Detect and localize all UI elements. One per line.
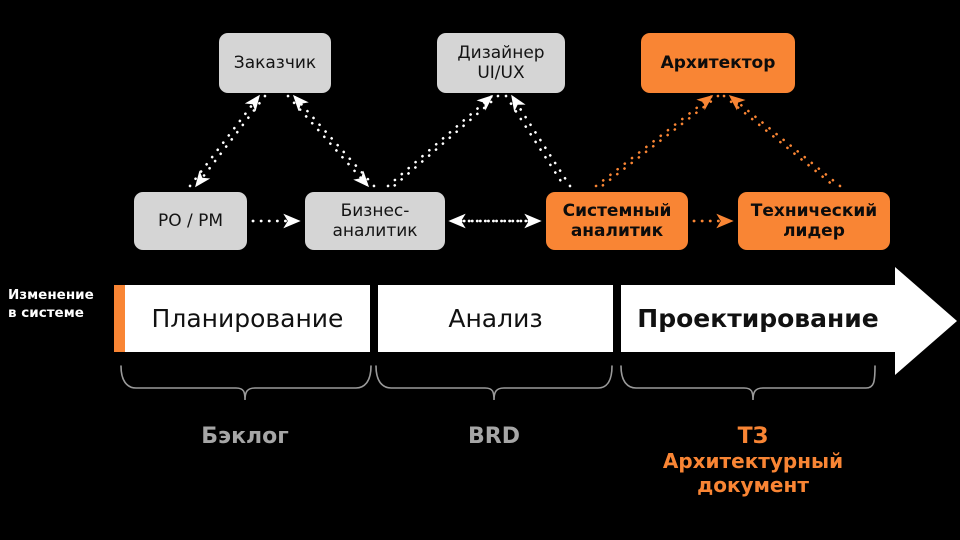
diagram-canvas: Изменение в системе Заказчик Дизайнер UI… bbox=[0, 0, 960, 540]
edge-customer-ba bbox=[288, 96, 374, 186]
edge-designer-sa bbox=[506, 96, 570, 186]
artifact-tz-title: ТЗ bbox=[633, 424, 873, 450]
role-box-designer[interactable]: Дизайнер UI/UX bbox=[437, 33, 565, 93]
phase-start-marker bbox=[114, 285, 125, 352]
phase-arrow-head bbox=[895, 267, 957, 375]
phase-cell-analysis[interactable]: Анализ bbox=[378, 285, 613, 352]
artifact-tz-subtitle: Архитектурный документ bbox=[633, 450, 873, 497]
edge-techlead-architect bbox=[724, 96, 840, 186]
role-box-tech-lead[interactable]: Технический лидер bbox=[738, 192, 890, 250]
artifact-brd-title: BRD bbox=[374, 424, 614, 450]
artifact-brd: BRD bbox=[374, 424, 614, 450]
artifact-backlog: Бэклог bbox=[125, 424, 365, 450]
edge-sa-architect bbox=[596, 96, 718, 186]
phase-cell-design[interactable]: Проектирование bbox=[621, 285, 895, 352]
role-box-customer[interactable]: Заказчик bbox=[219, 33, 331, 93]
brace-backlog bbox=[121, 366, 371, 400]
role-box-system-analyst[interactable]: Системный аналитик bbox=[546, 192, 688, 250]
artifact-tz: ТЗ Архитектурный документ bbox=[633, 424, 873, 498]
artifact-backlog-title: Бэклог bbox=[125, 424, 365, 450]
role-box-po-pm[interactable]: PO / PM bbox=[134, 192, 247, 250]
edge-ba-designer bbox=[388, 96, 498, 186]
brace-tz bbox=[621, 366, 875, 400]
brace-brd bbox=[376, 366, 612, 400]
role-box-architect[interactable]: Архитектор bbox=[641, 33, 795, 93]
change-in-system-label: Изменение в системе bbox=[8, 286, 112, 322]
role-box-business-analyst[interactable]: Бизнес- аналитик bbox=[305, 192, 445, 250]
edge-po-customer bbox=[190, 96, 265, 186]
phase-cell-planning[interactable]: Планирование bbox=[125, 285, 370, 352]
